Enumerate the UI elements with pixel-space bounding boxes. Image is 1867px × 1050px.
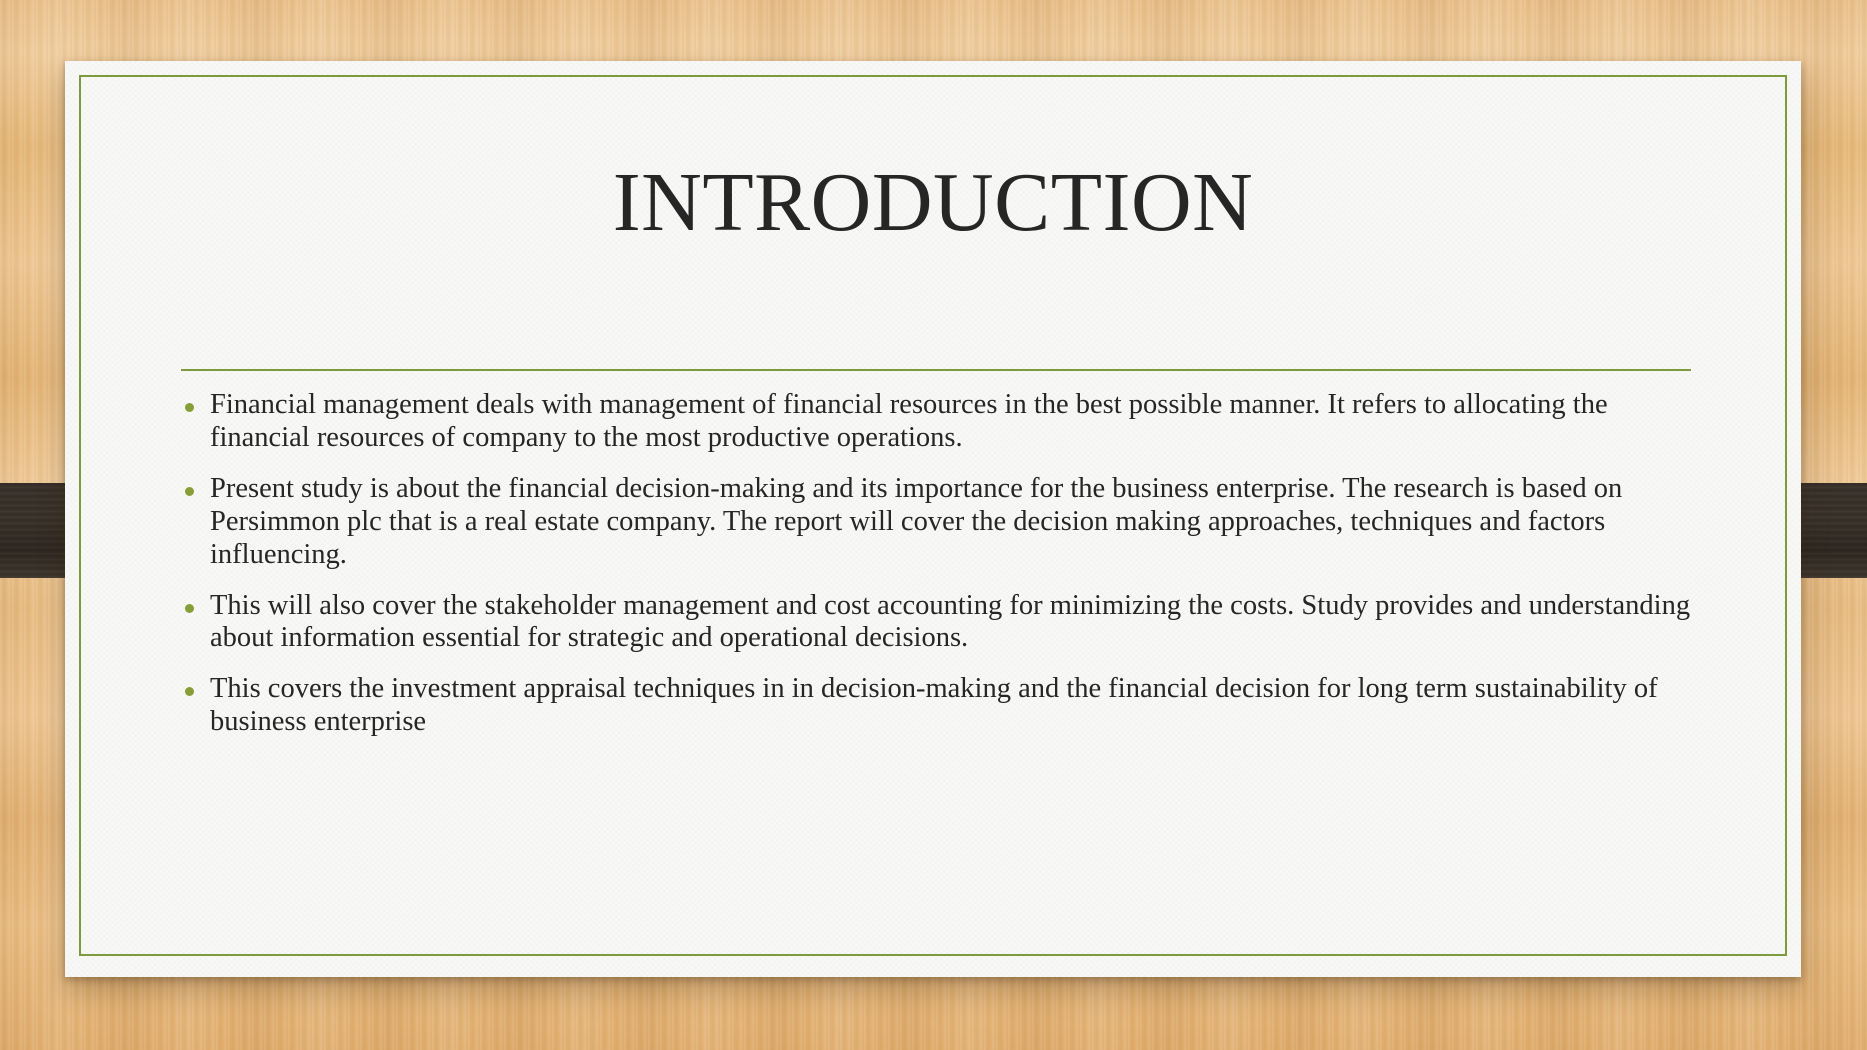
list-item-text: Financial management deals with manageme… [210,389,1693,455]
bullet-dot-icon [185,403,194,412]
list-item-text: This covers the investment appraisal tec… [210,673,1693,739]
title-divider-rule [181,369,1691,371]
list-item: Financial management deals with manageme… [177,389,1693,455]
bullet-dot-icon [185,487,194,496]
list-item: Present study is about the financial dec… [177,473,1693,572]
bullet-dot-icon [185,687,194,696]
list-item: This covers the investment appraisal tec… [177,673,1693,739]
list-item-text: Present study is about the financial dec… [210,473,1693,572]
slide-content: INTRODUCTION Financial management deals … [65,61,1801,977]
list-item: This will also cover the stakeholder man… [177,590,1693,656]
bullet-dot-icon [185,604,194,613]
list-item-text: This will also cover the stakeholder man… [210,590,1693,656]
slide-title: INTRODUCTION [65,161,1801,245]
bullet-list: Financial management deals with manageme… [177,389,1693,739]
slide-card: INTRODUCTION Financial management deals … [65,61,1801,977]
